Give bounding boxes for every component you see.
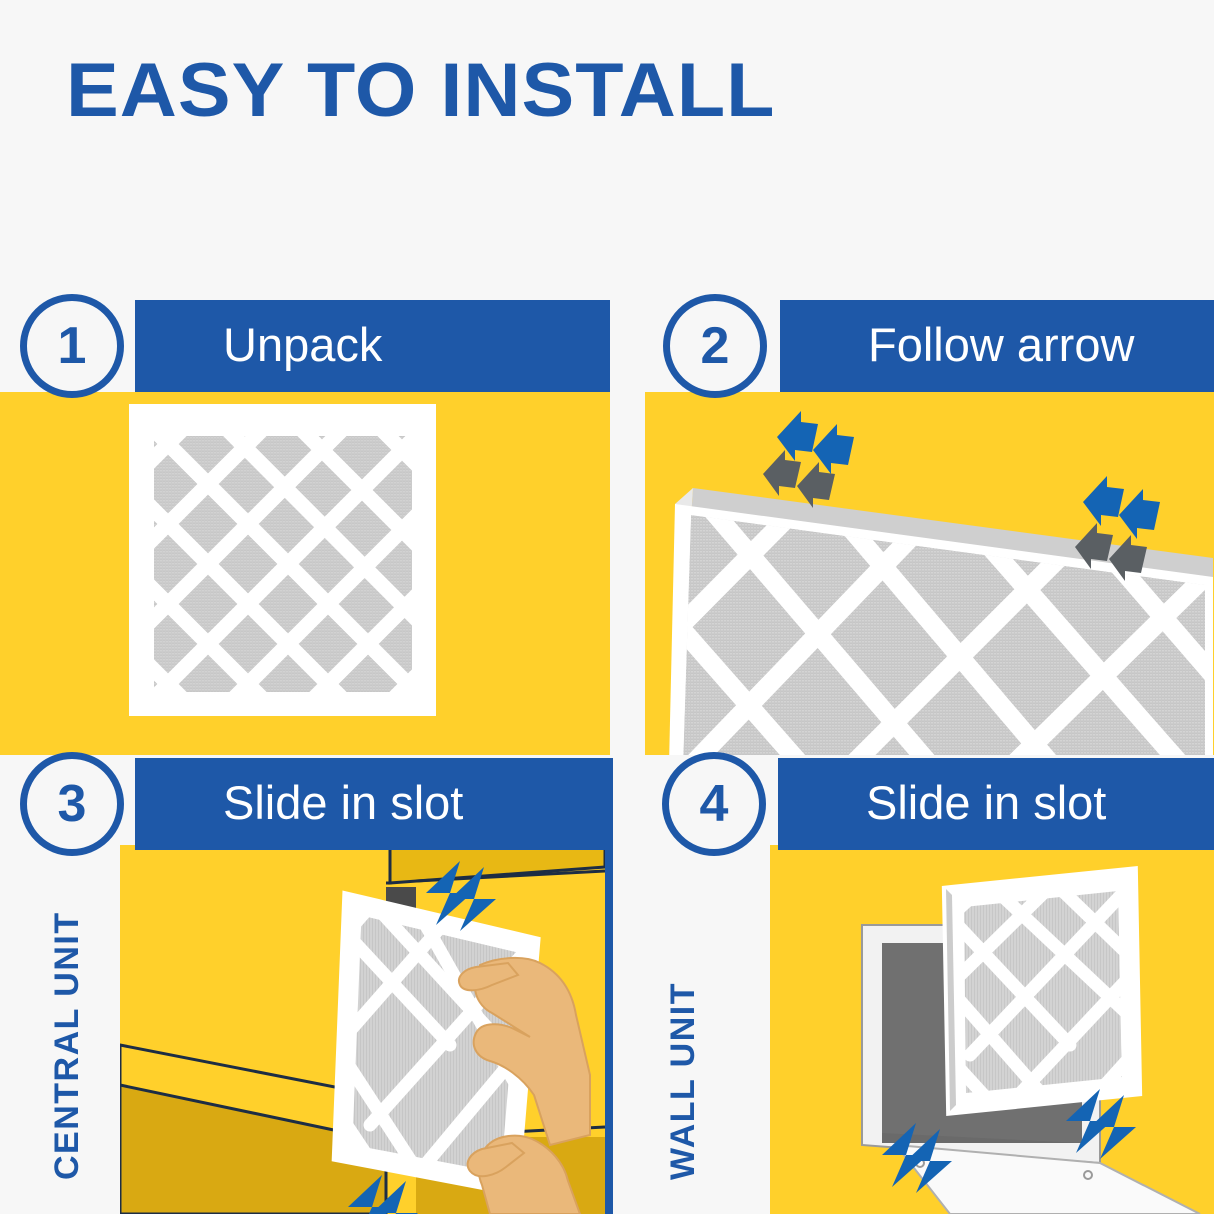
step-2-label: Follow arrow bbox=[868, 320, 1134, 370]
step-3-number: 3 bbox=[58, 774, 87, 834]
infographic-root: EASY TO INSTALL bbox=[0, 0, 1214, 1214]
step-1-label: Unpack bbox=[223, 320, 382, 370]
step-4-header: Slide in slot bbox=[778, 758, 1214, 850]
step-2-illustration bbox=[645, 392, 1214, 755]
step-4-label: Slide in slot bbox=[866, 778, 1106, 828]
page-title: EASY TO INSTALL bbox=[66, 47, 775, 135]
filter-front-view-icon bbox=[0, 392, 610, 755]
panel-3-right-edge bbox=[605, 845, 613, 1214]
step-4-side-label: WALL UNIT bbox=[664, 890, 703, 1180]
step-3-badge: 3 bbox=[20, 752, 124, 856]
step-4-illustration bbox=[770, 845, 1214, 1214]
step-2-number: 2 bbox=[701, 316, 730, 376]
tilted-filter-airflow-icon bbox=[645, 392, 1214, 755]
step-4-badge: 4 bbox=[662, 752, 766, 856]
step-2-header: Follow arrow bbox=[780, 300, 1214, 392]
step-1-header: Unpack bbox=[135, 300, 610, 392]
step-3-illustration bbox=[120, 845, 605, 1214]
step-4-number: 4 bbox=[700, 774, 729, 834]
step-3-side-label: CENTRAL UNIT bbox=[48, 880, 87, 1180]
central-unit-insert-icon bbox=[120, 845, 605, 1214]
step-1-badge: 1 bbox=[20, 294, 124, 398]
step-1-number: 1 bbox=[58, 316, 87, 376]
step-2-badge: 2 bbox=[663, 294, 767, 398]
wall-unit-insert-icon bbox=[770, 845, 1214, 1214]
step-1-illustration bbox=[0, 392, 610, 755]
step-3-header: Slide in slot bbox=[135, 758, 613, 850]
step-3-label: Slide in slot bbox=[223, 778, 463, 828]
